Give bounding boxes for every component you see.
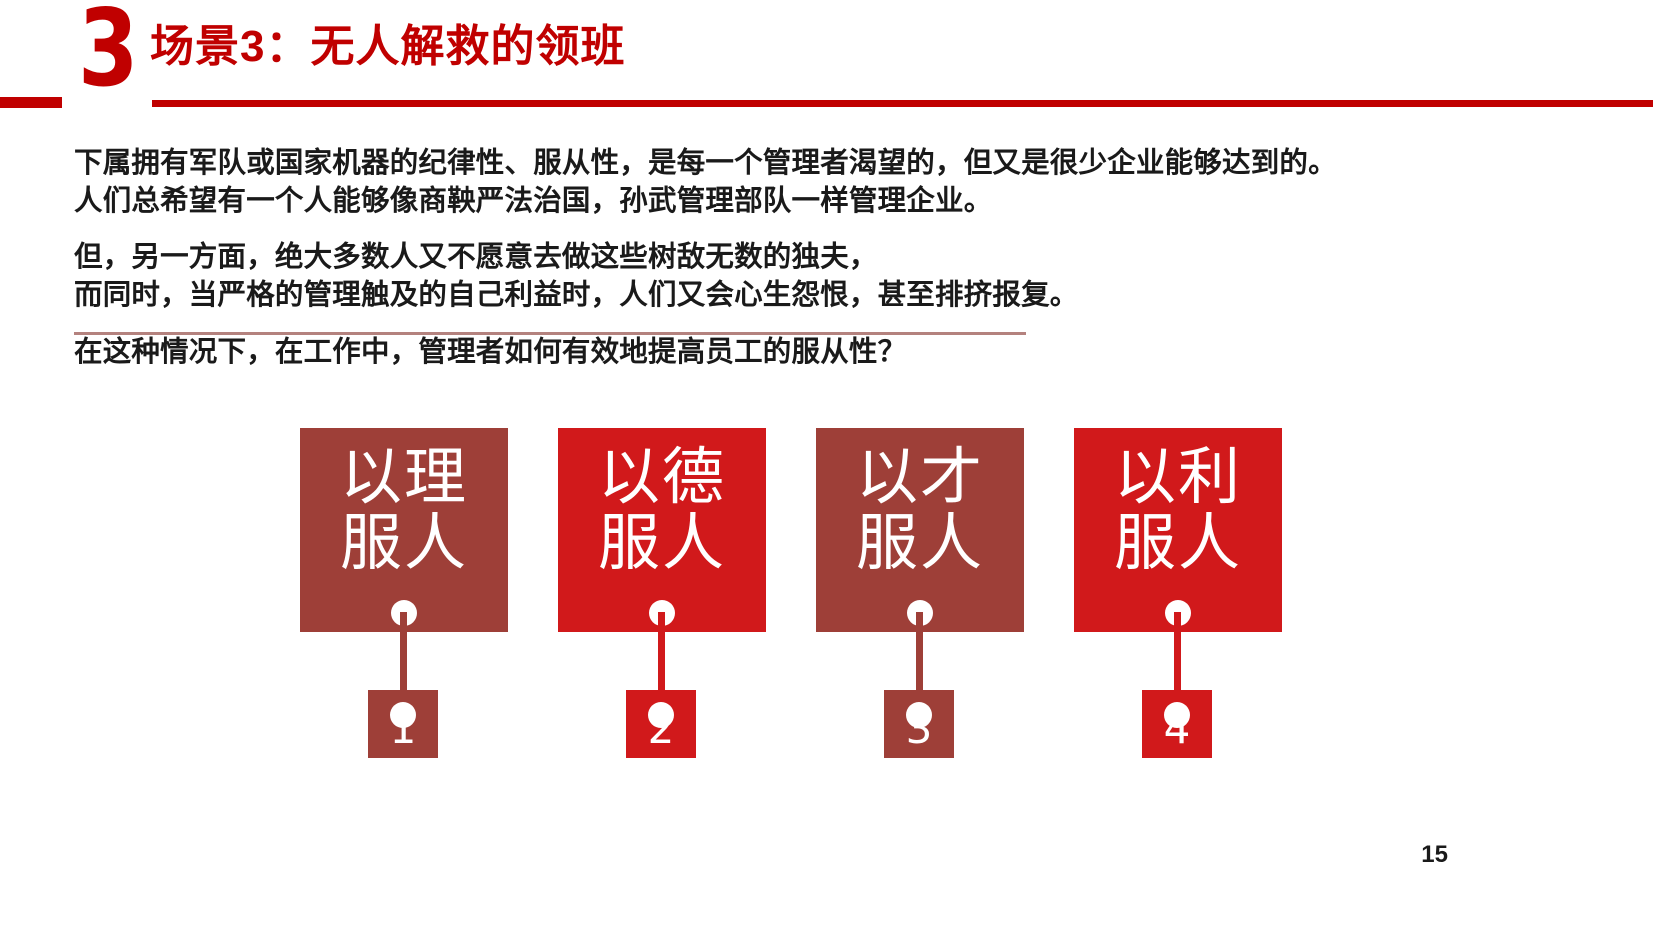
card-3-number: 3 (884, 706, 954, 752)
card-4-connector-line (1174, 612, 1181, 694)
header-rule-right (152, 100, 1653, 107)
section-number: 3 (78, 0, 137, 102)
card-2-number-badge[interactable]: 2 (626, 690, 696, 758)
card-2-number: 2 (626, 706, 696, 752)
page-number: 15 (1421, 841, 1448, 869)
paragraph-2-line-1: 但，另一方面，绝大多数人又不愿意去做这些树敌无数的独夫， (74, 238, 1079, 276)
card-1-label-line-2: 服人 (300, 510, 508, 576)
card-2-connector-line (658, 612, 665, 694)
paragraph-3-line-1: 在这种情况下，在工作中，管理者如何有效地提高员工的服从性？ (74, 333, 906, 371)
paragraph-3: 在这种情况下，在工作中，管理者如何有效地提高员工的服从性？ (74, 333, 906, 371)
paragraph-2-line-2: 而同时，当严格的管理触及的自己利益时，人们又会心生怨恨，甚至排挤报复。 (74, 276, 1079, 314)
card-4-label-line-1: 以利 (1074, 428, 1282, 510)
header-rule-left (0, 97, 62, 108)
card-4-number-badge[interactable]: 4 (1142, 690, 1212, 758)
card-3-label-line-2: 服人 (816, 510, 1024, 576)
card-2-label-line-1: 以德 (558, 428, 766, 510)
card-3[interactable]: 以才 服人 (816, 428, 1024, 632)
paragraph-1-line-2: 人们总希望有一个人能够像商鞅严法治国，孙武管理部队一样管理企业。 (74, 182, 1337, 220)
paragraph-2: 但，另一方面，绝大多数人又不愿意去做这些树敌无数的独夫， 而同时，当严格的管理触… (74, 238, 1079, 314)
paragraph-1: 下属拥有军队或国家机器的纪律性、服从性，是每一个管理者渴望的，但又是很少企业能够… (74, 144, 1337, 220)
card-3-number-badge[interactable]: 3 (884, 690, 954, 758)
card-4-number: 4 (1142, 706, 1212, 752)
card-3-connector-line (916, 612, 923, 694)
slide-header: 3 场景3：无人解救的领班 (0, 0, 1653, 118)
card-1[interactable]: 以理 服人 (300, 428, 508, 632)
card-1-number-badge[interactable]: 1 (368, 690, 438, 758)
card-3-label-line-1: 以才 (816, 428, 1024, 510)
page-title: 场景3：无人解救的领班 (150, 22, 625, 72)
card-2[interactable]: 以德 服人 (558, 428, 766, 632)
card-1-number: 1 (368, 706, 438, 752)
paragraph-1-line-1: 下属拥有军队或国家机器的纪律性、服从性，是每一个管理者渴望的，但又是很少企业能够… (74, 144, 1337, 182)
card-4-label-line-2: 服人 (1074, 510, 1282, 576)
card-1-connector-line (400, 612, 407, 694)
card-2-label-line-2: 服人 (558, 510, 766, 576)
card-4[interactable]: 以利 服人 (1074, 428, 1282, 632)
card-1-label-line-1: 以理 (300, 428, 508, 510)
slide-canvas: 3 场景3：无人解救的领班 下属拥有军队或国家机器的纪律性、服从性，是每一个管理… (0, 0, 1653, 929)
